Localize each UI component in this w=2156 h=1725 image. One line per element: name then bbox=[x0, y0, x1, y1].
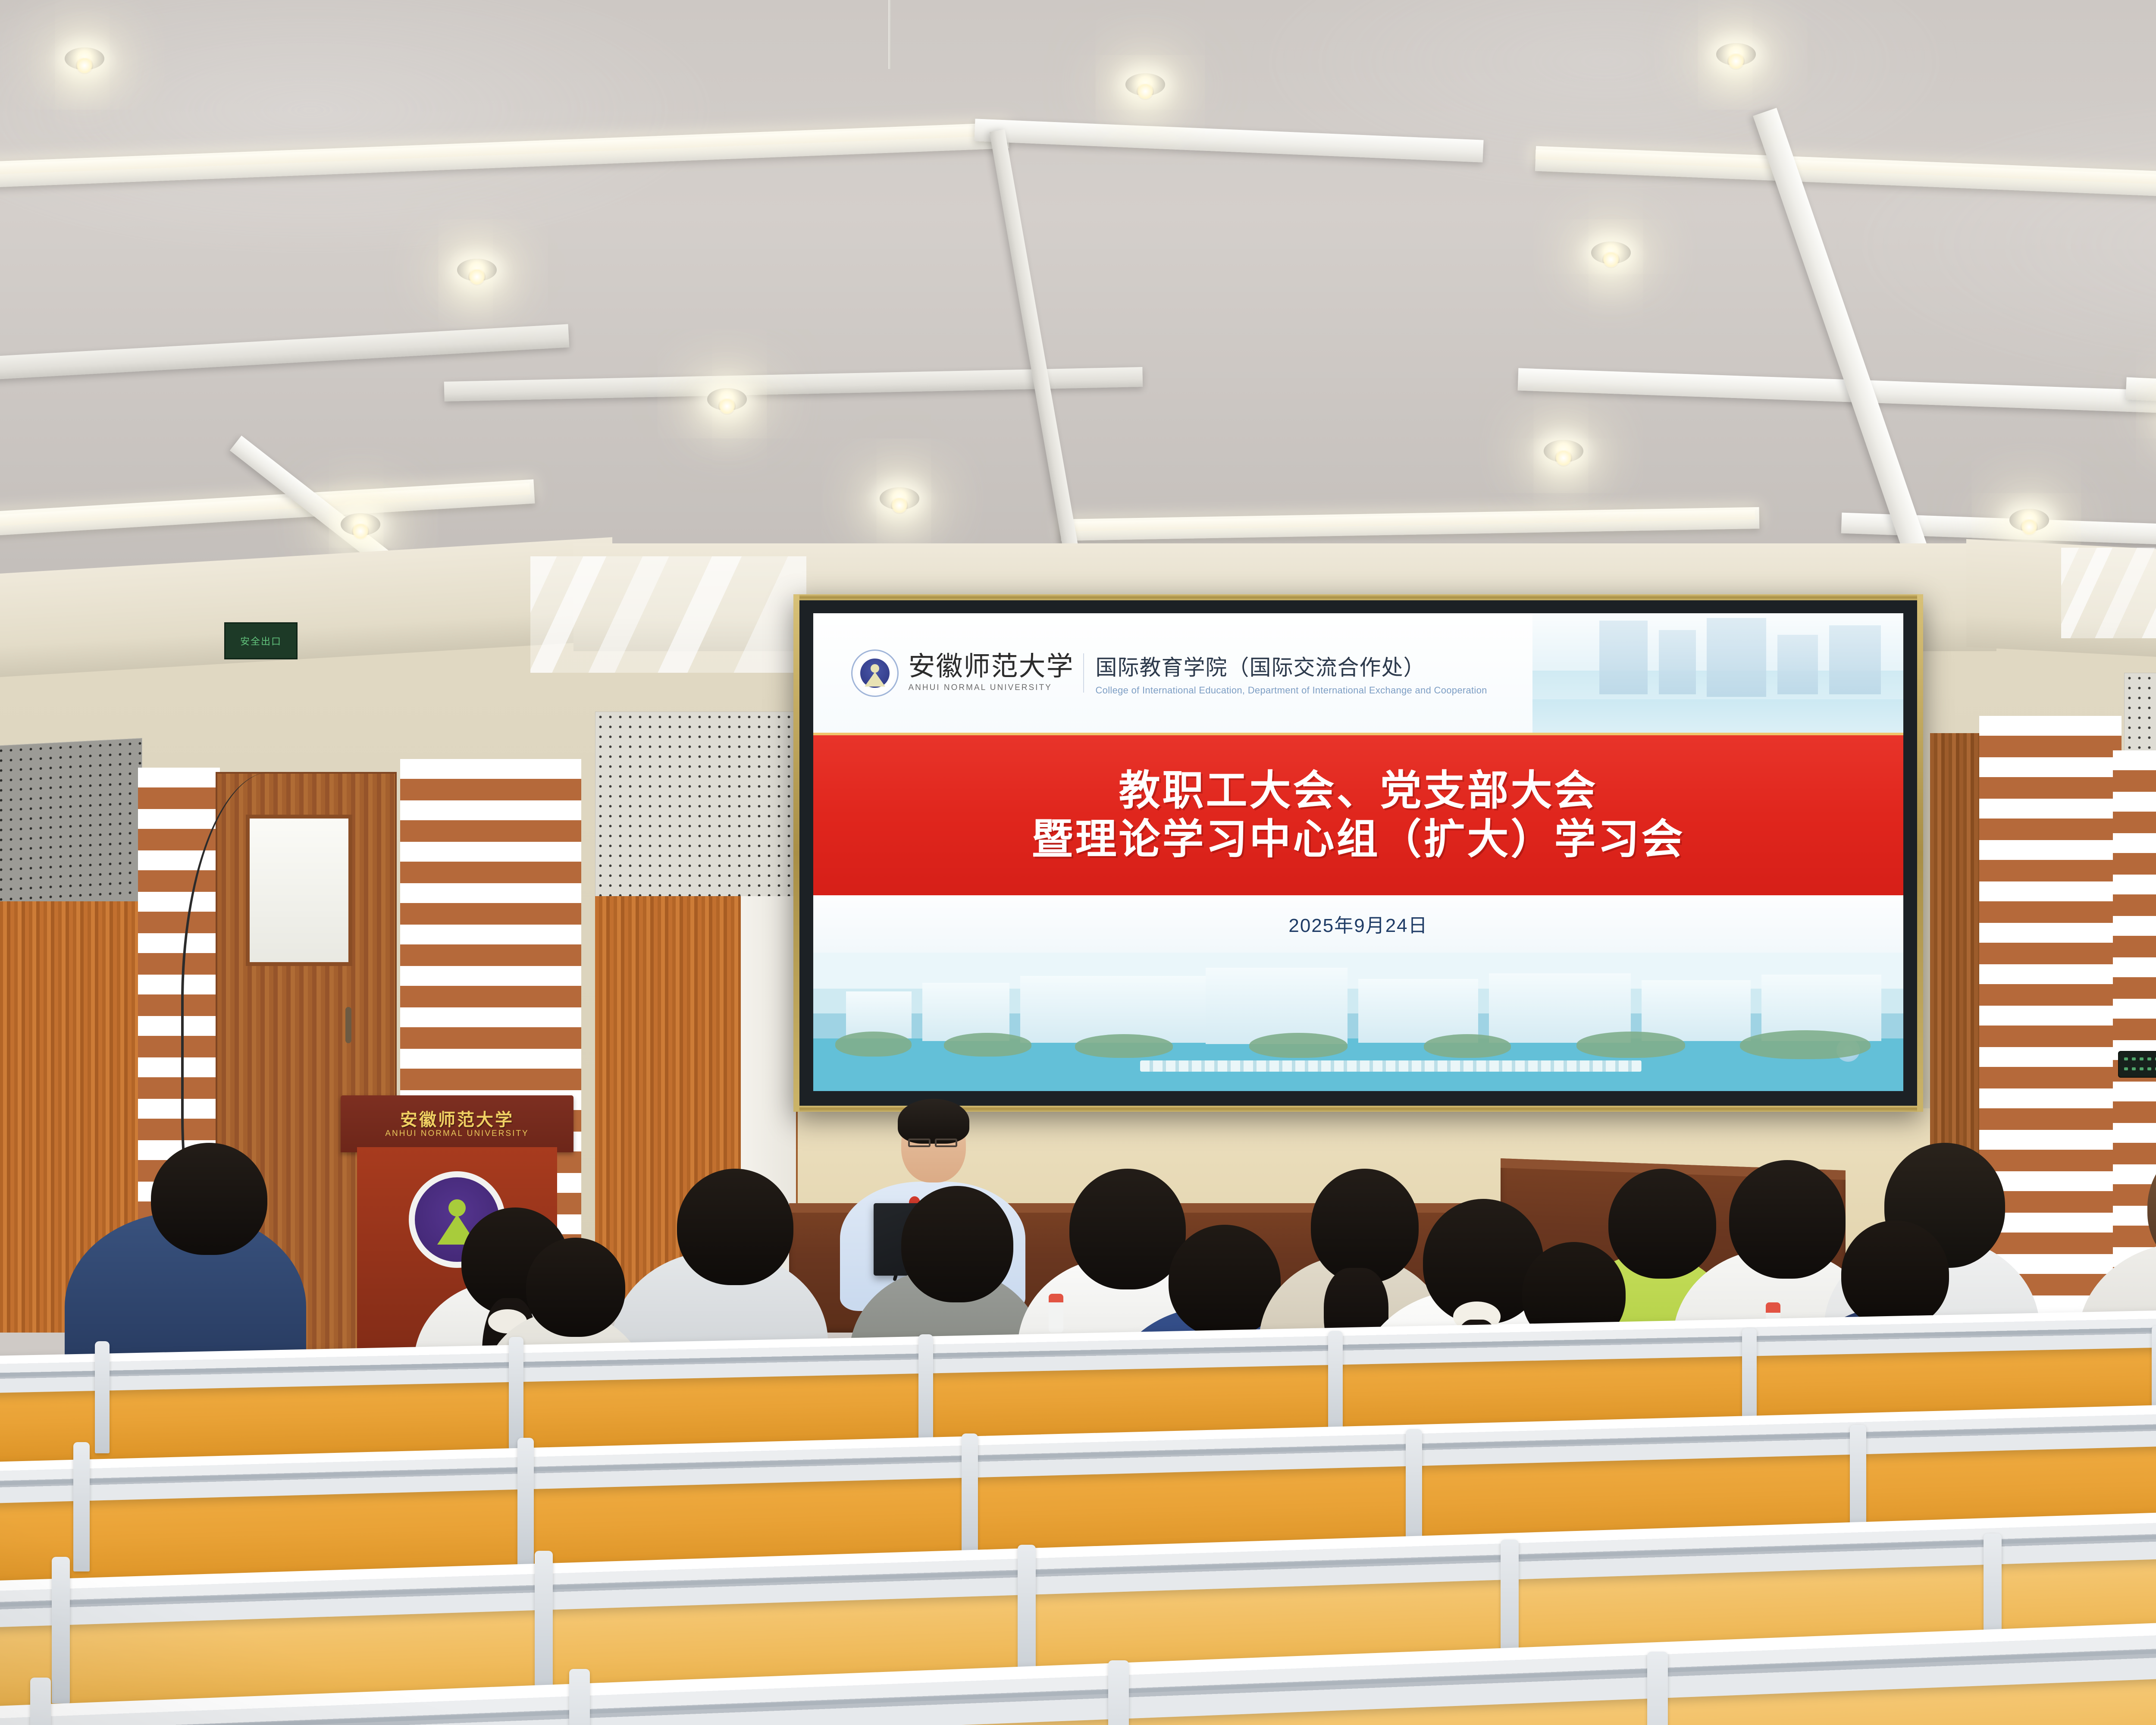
ceiling-downlight bbox=[65, 47, 104, 70]
university-logo-block: 安徽师范大学 ANHUI NORMAL UNIVERSITY bbox=[908, 653, 1084, 693]
person-head bbox=[151, 1143, 267, 1255]
slide-date-row: 2025年9月24日 bbox=[813, 895, 1903, 953]
striped-wall bbox=[1979, 716, 2122, 1333]
department-block: 国际教育学院（国际交流合作处） College of International… bbox=[1095, 650, 1487, 696]
seat-divider bbox=[569, 1669, 590, 1725]
ceiling-downlight bbox=[341, 513, 380, 536]
department-name-en: College of International Education, Depa… bbox=[1095, 685, 1487, 696]
ceiling-downlight bbox=[880, 487, 919, 510]
person-head bbox=[526, 1238, 625, 1337]
lectern-top: 安徽师范大学 ANHUI NORMAL UNIVERSITY bbox=[341, 1095, 573, 1152]
slide-date: 2025年9月24日 bbox=[1288, 910, 1428, 938]
person-head bbox=[1311, 1169, 1419, 1283]
slide-header: 安徽师范大学 ANHUI NORMAL UNIVERSITY 国际教育学院（国际… bbox=[813, 613, 1903, 733]
ceiling-downlight bbox=[1125, 73, 1165, 96]
slide-title-banner: 教职工大会、党支部大会 暨理论学习中心组（扩大）学习会 bbox=[813, 733, 1903, 895]
ceiling-downlight bbox=[1544, 440, 1583, 462]
ceiling-downlight bbox=[1591, 241, 1631, 264]
university-name-en: ANHUI NORMAL UNIVERSITY bbox=[908, 683, 1074, 693]
slide-header-photo bbox=[1532, 613, 1903, 733]
department-name-cn: 国际教育学院（国际交流合作处） bbox=[1095, 650, 1487, 681]
person-head bbox=[901, 1186, 1013, 1302]
ceiling bbox=[0, 0, 2156, 612]
ceiling-downlight bbox=[1716, 43, 1756, 66]
speaker-hair bbox=[898, 1099, 969, 1144]
screen-gold-trim bbox=[1917, 594, 1923, 1112]
exit-sign-label: 安全出口 bbox=[240, 634, 282, 648]
screen-gold-trim bbox=[793, 594, 1923, 600]
slide-title-line2: 暨理论学习中心组（扩大）学习会 bbox=[1032, 815, 1685, 864]
plastic-sheet bbox=[2061, 548, 2156, 638]
lectern-name-cn: 安徽师范大学 bbox=[341, 1106, 573, 1131]
slide-content: 安徽师范大学 ANHUI NORMAL UNIVERSITY 国际教育学院（国际… bbox=[813, 613, 1903, 1091]
plastic-sheet bbox=[530, 556, 806, 673]
person-head bbox=[1729, 1160, 1846, 1279]
ceiling-downlight bbox=[2009, 509, 2049, 531]
ceiling-hanger-rod bbox=[888, 0, 891, 69]
ceiling-downlight bbox=[707, 388, 747, 411]
person-head bbox=[1608, 1169, 1716, 1279]
ceiling-downlight bbox=[457, 259, 497, 281]
slide-campus-panorama bbox=[813, 953, 1903, 1091]
university-emblem-icon bbox=[851, 649, 899, 697]
seat-row[interactable] bbox=[0, 1656, 2156, 1725]
person-head bbox=[1069, 1169, 1186, 1289]
speaker-glasses-icon bbox=[908, 1138, 931, 1147]
speaker-glasses-icon bbox=[935, 1138, 957, 1147]
exit-sign[interactable]: 安全出口 bbox=[224, 622, 298, 659]
person-head bbox=[1841, 1220, 1949, 1328]
screen-gold-trim bbox=[793, 594, 799, 1112]
led-screen[interactable]: 安徽师范大学 ANHUI NORMAL UNIVERSITY 国际教育学院（国际… bbox=[793, 594, 1923, 1112]
wall-control-panel[interactable] bbox=[2118, 1051, 2156, 1078]
seat-divider bbox=[1108, 1660, 1129, 1725]
conference-hall-photo: 安全出口 bbox=[0, 0, 2156, 1725]
lectern-name-en: ANHUI NORMAL UNIVERSITY bbox=[341, 1129, 573, 1138]
seat-divider bbox=[1647, 1652, 1668, 1725]
water-bottle[interactable] bbox=[1049, 1294, 1063, 1333]
person-head bbox=[677, 1169, 793, 1285]
university-name-cn: 安徽师范大学 bbox=[908, 653, 1074, 680]
seat-divider bbox=[30, 1678, 51, 1725]
slide-title-line1: 教职工大会、党支部大会 bbox=[1119, 766, 1598, 815]
